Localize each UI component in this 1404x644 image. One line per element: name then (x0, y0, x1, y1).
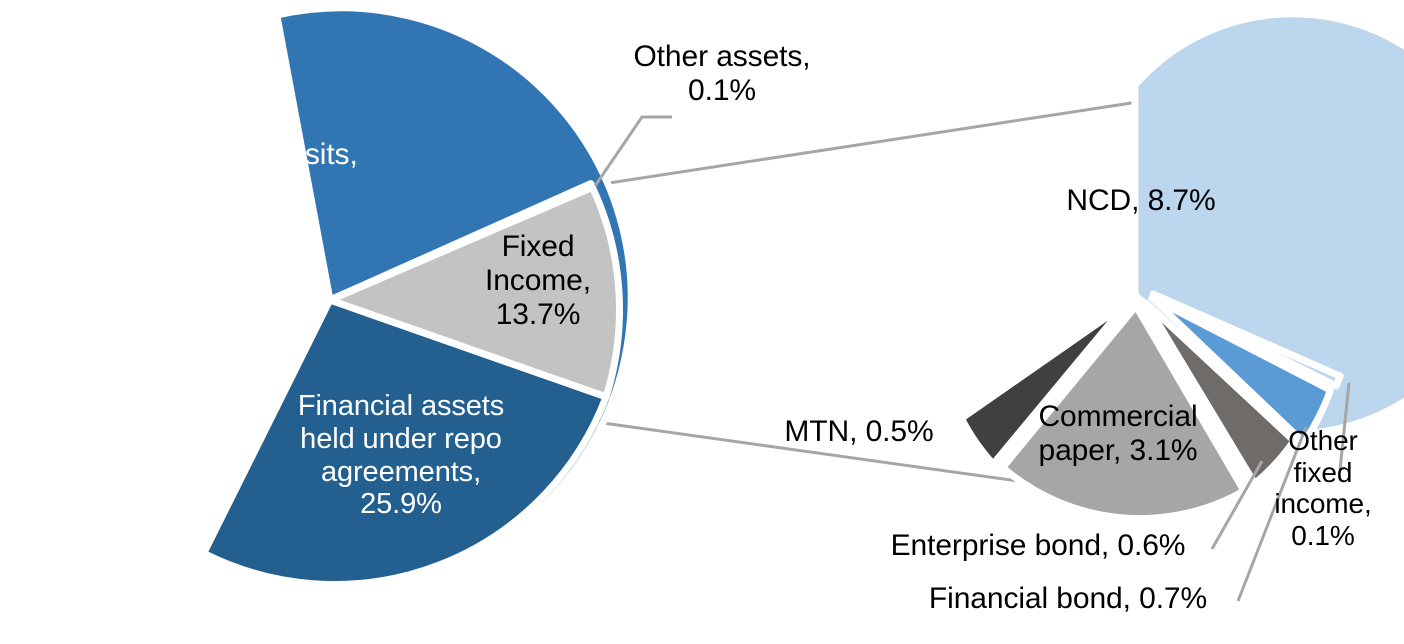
label-mtn: MTN, 0.5% (769, 415, 949, 449)
label-other-fixed-income: Other fixed income, 0.1% (1258, 425, 1388, 552)
label-other-assets: Other assets, 0.1% (605, 40, 839, 108)
label-commercial-paper: Commercial paper, 3.1% (1007, 400, 1229, 468)
label-bank-deposits: Bank deposits, 60.3% (130, 138, 390, 206)
pie-of-pie-chart: Bank deposits, 60.3% Financial assets he… (0, 0, 1404, 644)
label-enterprise-bond: Enterprise bond, 0.6% (866, 529, 1210, 563)
label-ncd: NCD, 8.7% (1048, 184, 1234, 218)
label-financial-bond: Financial bond, 0.7% (898, 582, 1238, 616)
label-fixed-income: Fixed Income, 13.7% (462, 230, 614, 332)
label-repo-agreements: Financial assets held under repo agreeme… (265, 390, 537, 521)
